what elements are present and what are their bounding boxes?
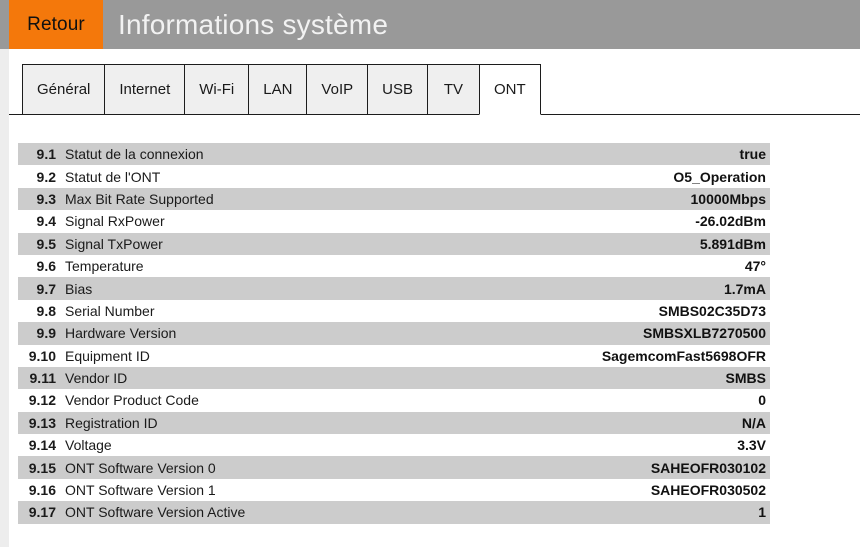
row-index: 9.14 xyxy=(18,437,62,453)
info-row: 9.10Equipment IDSagemcomFast5698OFR xyxy=(18,345,770,367)
row-index: 9.15 xyxy=(18,460,62,476)
row-value: 47° xyxy=(745,258,770,274)
row-label: Statut de la connexion xyxy=(62,146,740,162)
info-row: 9.7Bias1.7mA xyxy=(18,277,770,299)
info-row: 9.5Signal TxPower5.891dBm xyxy=(18,233,770,255)
tab-tv[interactable]: TV xyxy=(427,64,479,115)
row-label: ONT Software Version 0 xyxy=(62,460,651,476)
row-value: 10000Mbps xyxy=(691,191,770,207)
row-index: 9.17 xyxy=(18,504,62,520)
tab-wifi[interactable]: Wi-Fi xyxy=(184,64,248,115)
row-value: -26.02dBm xyxy=(695,213,770,229)
row-index: 9.8 xyxy=(18,303,62,319)
row-value: true xyxy=(740,146,770,162)
row-value: O5_Operation xyxy=(673,169,770,185)
info-row: 9.8Serial NumberSMBS02C35D73 xyxy=(18,300,770,322)
row-value: SMBS02C35D73 xyxy=(659,303,770,319)
back-button[interactable]: Retour xyxy=(9,0,103,49)
tab-usb[interactable]: USB xyxy=(367,64,427,115)
info-row: 9.17ONT Software Version Active1 xyxy=(18,501,770,523)
tab-lan[interactable]: LAN xyxy=(248,64,306,115)
tab-label: LAN xyxy=(263,81,292,98)
row-label: ONT Software Version 1 xyxy=(62,482,651,498)
info-row: 9.11Vendor IDSMBS xyxy=(18,367,770,389)
info-row: 9.2Statut de l'ONTO5_Operation xyxy=(18,165,770,187)
row-index: 9.9 xyxy=(18,325,62,341)
row-index: 9.6 xyxy=(18,258,62,274)
tab-voip[interactable]: VoIP xyxy=(306,64,367,115)
row-value: SAHEOFR030102 xyxy=(651,460,770,476)
row-index: 9.3 xyxy=(18,191,62,207)
row-label: Registration ID xyxy=(62,415,742,431)
row-value: 0 xyxy=(758,392,770,408)
row-index: 9.10 xyxy=(18,348,62,364)
tab-label: USB xyxy=(382,81,413,98)
tab-label: TV xyxy=(444,81,463,98)
row-label: Equipment ID xyxy=(62,348,602,364)
tab-label: Wi-Fi xyxy=(199,81,234,98)
row-value: SAHEOFR030502 xyxy=(651,482,770,498)
row-index: 9.13 xyxy=(18,415,62,431)
row-value: N/A xyxy=(742,415,770,431)
tab-strip: Général Internet Wi-Fi LAN VoIP USB TV O… xyxy=(9,64,860,116)
row-index: 9.2 xyxy=(18,169,62,185)
info-row: 9.4Signal RxPower-26.02dBm xyxy=(18,210,770,232)
info-row: 9.15ONT Software Version 0SAHEOFR030102 xyxy=(18,456,770,478)
row-value: 1.7mA xyxy=(724,281,770,297)
tab-label: Général xyxy=(37,81,90,98)
row-label: Temperature xyxy=(62,258,745,274)
tab-label: Internet xyxy=(119,81,170,98)
row-label: Hardware Version xyxy=(62,325,643,341)
tab-general[interactable]: Général xyxy=(22,64,104,115)
row-value: 1 xyxy=(758,504,770,520)
tab-list: Général Internet Wi-Fi LAN VoIP USB TV O… xyxy=(22,64,541,115)
app-header-bar: Retour Informations système xyxy=(0,0,860,49)
row-index: 9.7 xyxy=(18,281,62,297)
row-label: Signal TxPower xyxy=(62,236,700,252)
left-edge-gutter xyxy=(0,0,9,547)
row-index: 9.16 xyxy=(18,482,62,498)
row-label: Statut de l'ONT xyxy=(62,169,673,185)
row-label: Max Bit Rate Supported xyxy=(62,191,691,207)
row-index: 9.11 xyxy=(18,370,62,386)
info-row: 9.9Hardware VersionSMBSXLB7270500 xyxy=(18,322,770,344)
system-information-page: Retour Informations système Général Inte… xyxy=(0,0,860,547)
row-index: 9.1 xyxy=(18,146,62,162)
ont-information-table: 9.1Statut de la connexiontrue9.2Statut d… xyxy=(18,143,770,524)
row-label: Voltage xyxy=(62,437,737,453)
row-value: SagemcomFast5698OFR xyxy=(602,348,770,364)
info-row: 9.12Vendor Product Code0 xyxy=(18,389,770,411)
tab-internet[interactable]: Internet xyxy=(104,64,184,115)
info-row: 9.13Registration IDN/A xyxy=(18,412,770,434)
row-label: ONT Software Version Active xyxy=(62,504,758,520)
row-label: Signal RxPower xyxy=(62,213,695,229)
row-label: Serial Number xyxy=(62,303,659,319)
row-value: SMBS xyxy=(726,370,770,386)
row-label: Vendor Product Code xyxy=(62,392,758,408)
tab-label: ONT xyxy=(494,81,526,98)
tab-label: VoIP xyxy=(321,81,353,98)
info-row: 9.6Temperature47° xyxy=(18,255,770,277)
info-row: 9.16ONT Software Version 1SAHEOFR030502 xyxy=(18,479,770,501)
row-index: 9.4 xyxy=(18,213,62,229)
page-title: Informations système xyxy=(118,0,388,49)
info-row: 9.3Max Bit Rate Supported10000Mbps xyxy=(18,188,770,210)
row-label: Vendor ID xyxy=(62,370,726,386)
info-row: 9.1Statut de la connexiontrue xyxy=(18,143,770,165)
row-value: SMBSXLB7270500 xyxy=(643,325,770,341)
row-label: Bias xyxy=(62,281,724,297)
info-row: 9.14Voltage3.3V xyxy=(18,434,770,456)
row-value: 3.3V xyxy=(737,437,770,453)
row-index: 9.12 xyxy=(18,392,62,408)
row-index: 9.5 xyxy=(18,236,62,252)
row-value: 5.891dBm xyxy=(700,236,770,252)
tab-ont[interactable]: ONT xyxy=(479,64,541,115)
